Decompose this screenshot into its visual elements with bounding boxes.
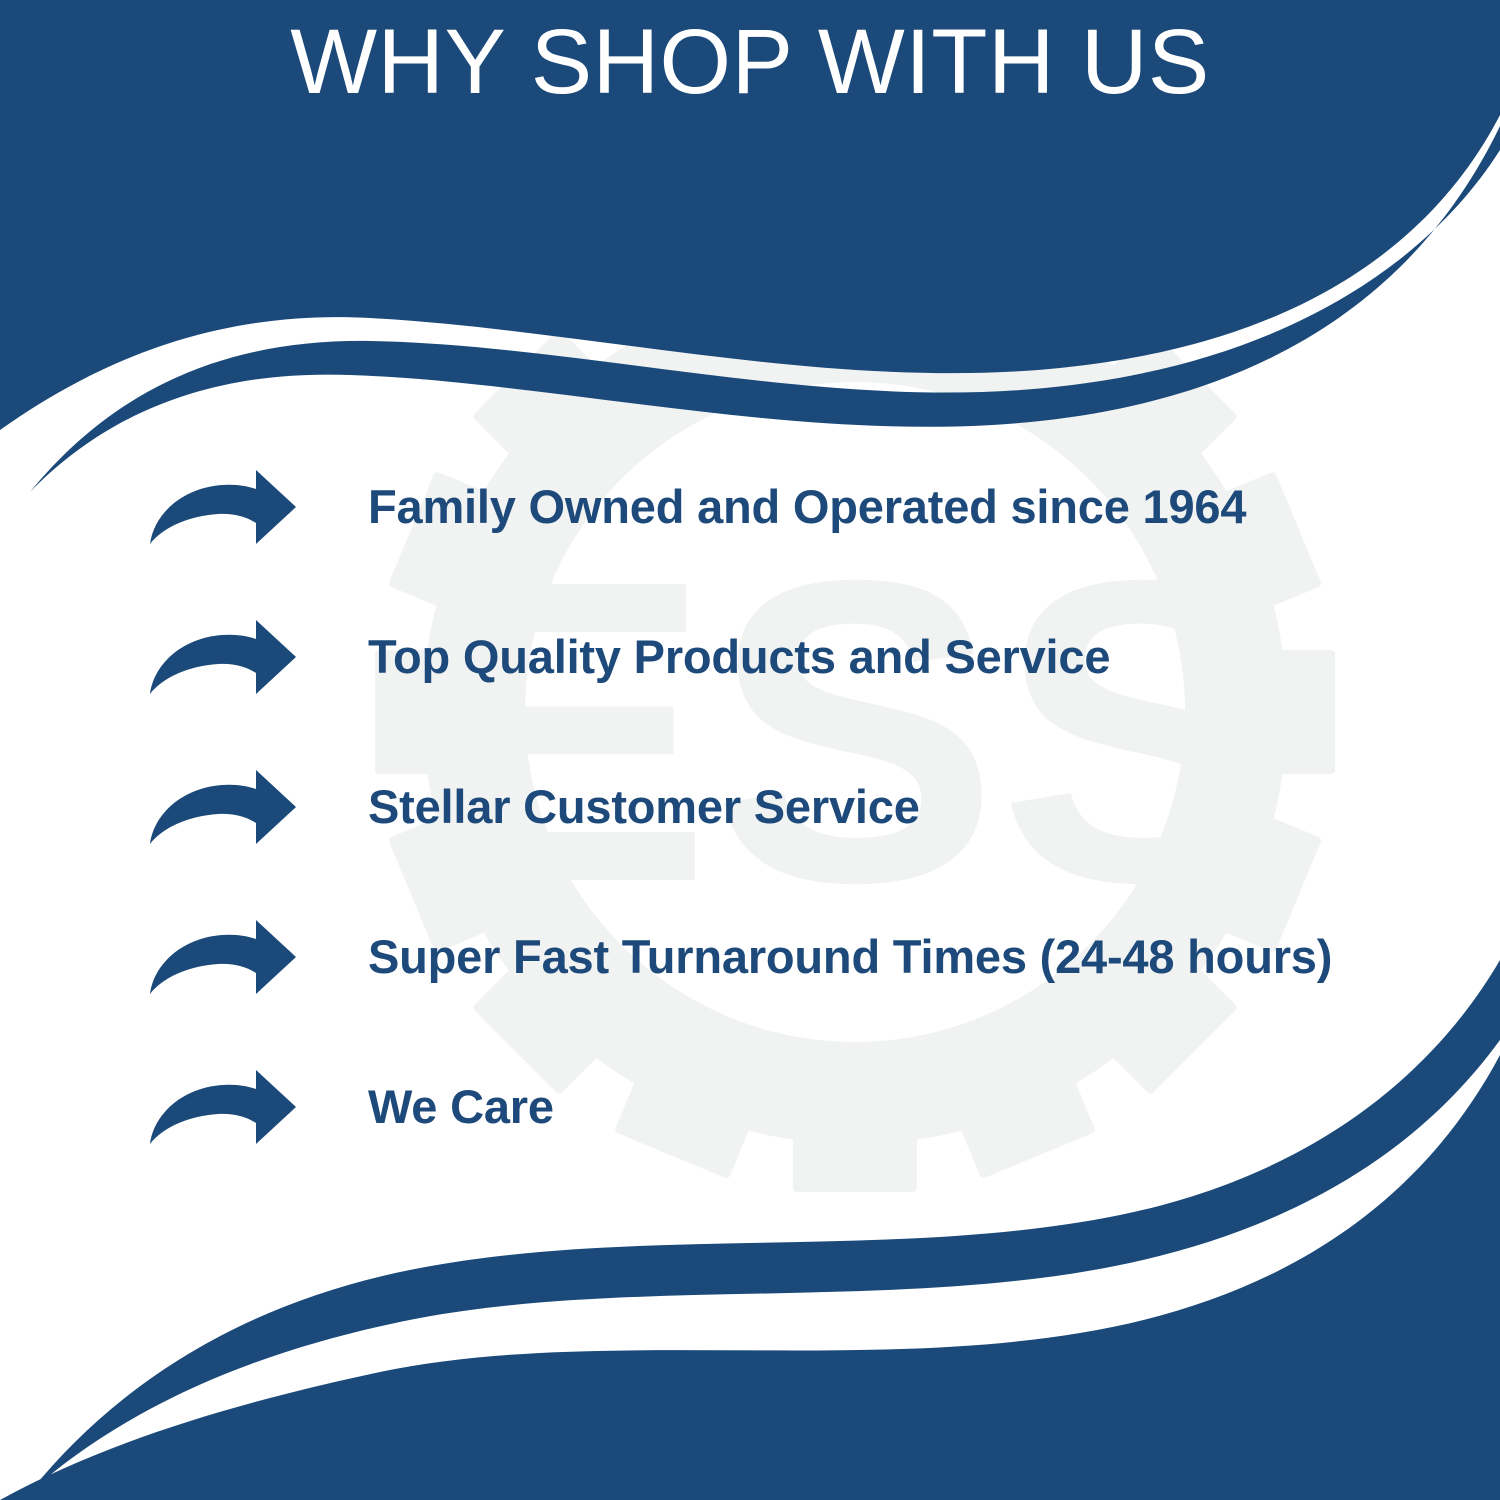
curved-right-arrow-icon (148, 468, 298, 546)
list-item: Top Quality Products and Service (148, 582, 1448, 732)
list-item-label: Stellar Customer Service (368, 782, 1448, 831)
list-item: Super Fast Turnaround Times (24-48 hours… (148, 882, 1448, 1032)
list-item-label: Family Owned and Operated since 1964 (368, 482, 1448, 531)
list-item: We Care (148, 1032, 1448, 1182)
list-item-label: Top Quality Products and Service (368, 632, 1448, 681)
list-item-label: Super Fast Turnaround Times (24-48 hours… (368, 932, 1448, 981)
list-item: Family Owned and Operated since 1964 (148, 432, 1448, 582)
curved-right-arrow-icon (148, 1068, 298, 1146)
curved-right-arrow-icon (148, 768, 298, 846)
list-item-label: We Care (368, 1082, 1448, 1131)
curved-right-arrow-icon (148, 618, 298, 696)
benefits-list: Family Owned and Operated since 1964 Top… (148, 432, 1448, 1182)
page-title: WHY SHOP WITH US (0, 16, 1500, 108)
curved-right-arrow-icon (148, 918, 298, 996)
list-item: Stellar Customer Service (148, 732, 1448, 882)
promo-banner: ESS WHY SHOP WITH US Family Owned and Op… (0, 0, 1500, 1500)
